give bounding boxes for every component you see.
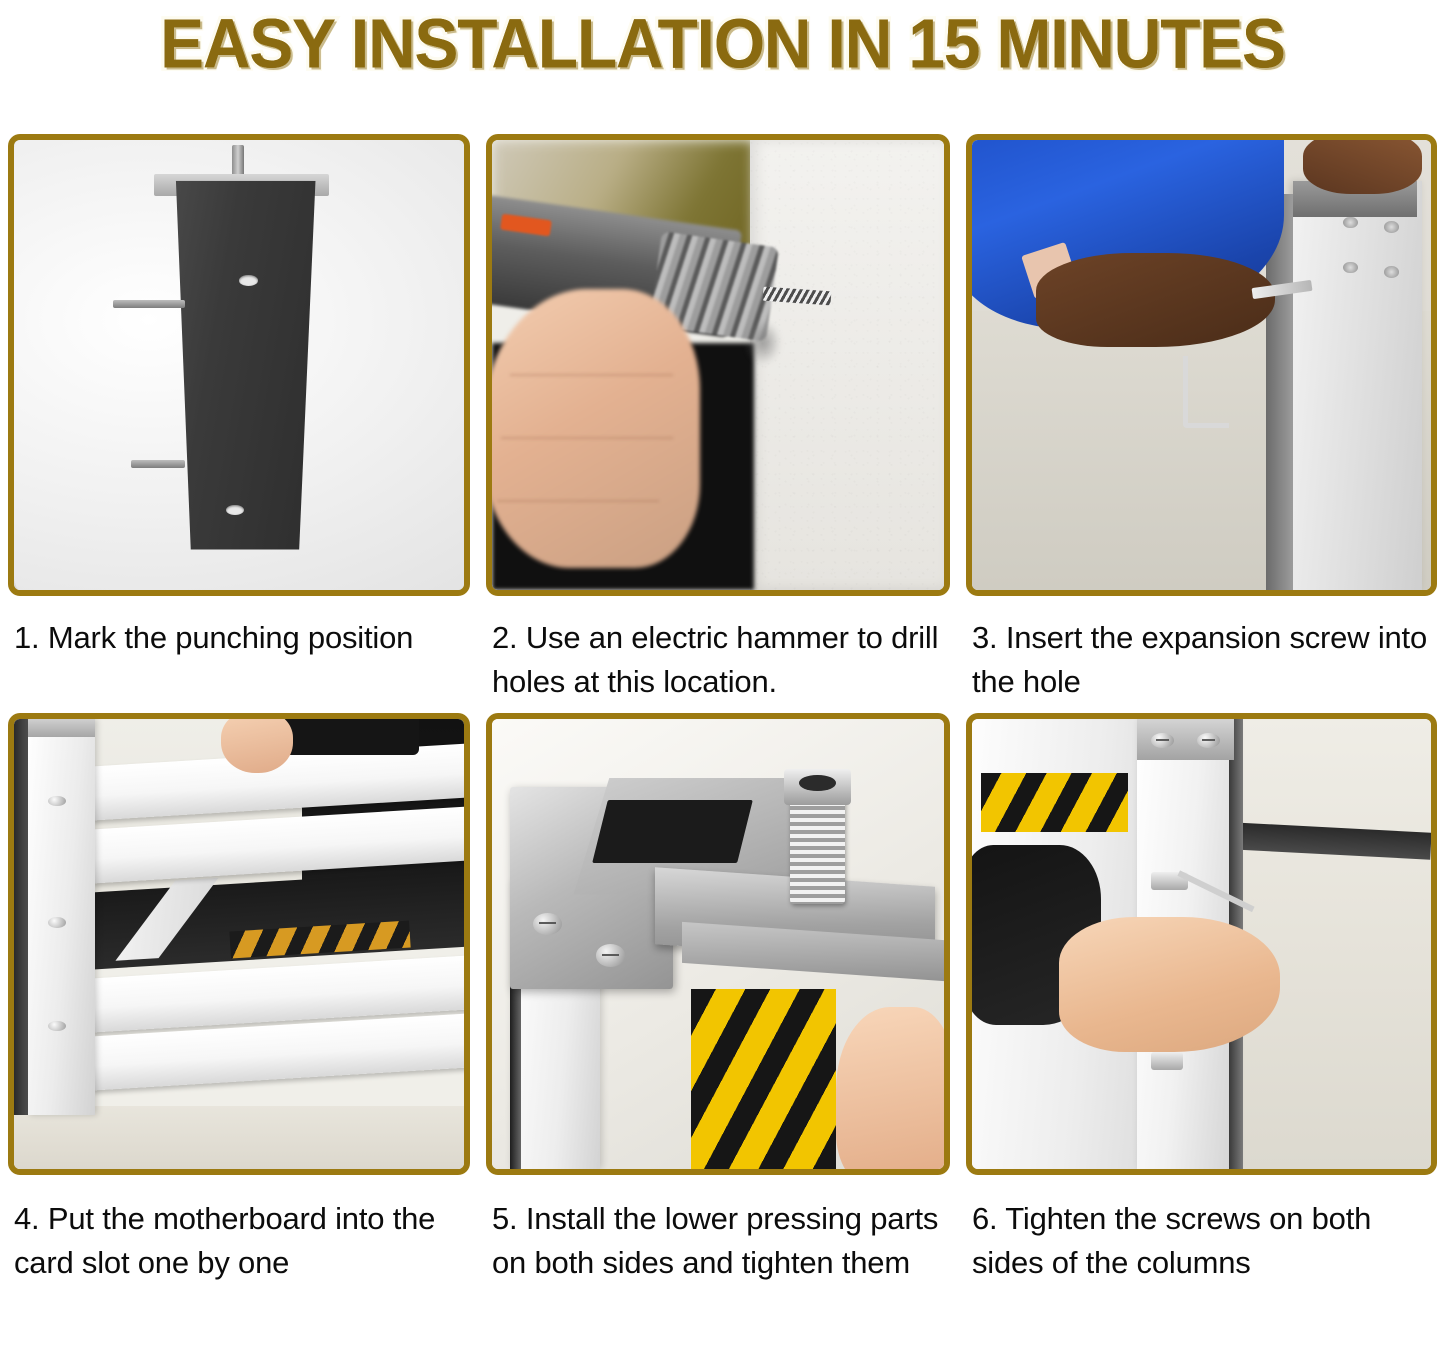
second-hand <box>1303 140 1422 194</box>
bolt-upper <box>113 300 185 309</box>
photo-pressing-parts <box>492 719 944 1169</box>
post-screw <box>48 1021 66 1032</box>
photo-tighten-screws <box>972 719 1431 1169</box>
post-screw <box>48 796 66 807</box>
step-caption-6: 6. Tighten the screws on both sides of t… <box>966 1197 1437 1285</box>
bracket-screw <box>596 944 625 967</box>
hex-key-on-ground <box>1183 356 1229 428</box>
photo-insert-boards <box>14 719 464 1169</box>
header-banner: EASY INSTALLATION IN 15 MINUTES <box>0 0 1445 86</box>
step-photo-frame-4 <box>8 713 470 1175</box>
step-card-1: 1. Mark the punching position <box>0 86 478 705</box>
post-top-cap <box>28 719 96 737</box>
step-card-5: 5. Install the lower pressing parts on b… <box>478 705 958 1352</box>
post-screw <box>48 917 66 928</box>
bracket-screw <box>533 913 562 936</box>
hand <box>836 1007 944 1169</box>
finger-line <box>510 374 673 376</box>
white-column <box>1293 181 1422 591</box>
step-photo-frame-6 <box>966 713 1437 1175</box>
step-caption-3: 3. Insert the expansion screw into the h… <box>966 616 1437 704</box>
side-fitting-lower <box>1151 1052 1183 1070</box>
finger-line <box>501 437 673 439</box>
white-wall <box>750 140 944 590</box>
person-silhouette <box>284 719 419 755</box>
hand <box>1059 917 1279 1052</box>
photo-insert-expansion-screw <box>972 140 1431 590</box>
hand <box>492 289 700 568</box>
thumb-bolt-socket <box>799 775 835 791</box>
column-screw <box>1384 221 1399 233</box>
step-caption-4: 4. Put the motherboard into the card slo… <box>8 1197 470 1285</box>
step-photo-frame-1 <box>8 134 470 596</box>
bolt-lower <box>131 460 185 469</box>
ground <box>14 1106 464 1169</box>
step-caption-2: 2. Use an electric hammer to drill holes… <box>486 616 950 704</box>
step-caption-5: 5. Install the lower pressing parts on b… <box>486 1197 950 1285</box>
drill-dust <box>745 320 781 365</box>
step-card-6: 6. Tighten the screws on both sides of t… <box>958 705 1445 1352</box>
step-photo-frame-3 <box>966 134 1437 596</box>
column-screw <box>1384 266 1399 278</box>
step-card-2: 2. Use an electric hammer to drill holes… <box>478 86 958 705</box>
steps-grid: 1. Mark the punching position 2. Use an … <box>0 86 1445 1352</box>
hazard-stripe <box>981 773 1128 832</box>
step-card-3: 3. Insert the expansion screw into the h… <box>958 86 1445 705</box>
mounting-post <box>167 181 316 550</box>
column-screw <box>1151 733 1174 748</box>
step-photo-frame-2 <box>486 134 950 596</box>
step-caption-1: 1. Mark the punching position <box>8 616 470 660</box>
forearm <box>1036 253 1275 348</box>
finger-line <box>497 500 660 502</box>
column-screw <box>1343 262 1358 274</box>
photo-drill-holes <box>492 140 944 590</box>
photo-mark-punching-position <box>14 140 464 590</box>
hazard-stripe <box>691 989 836 1169</box>
column-screw <box>1343 217 1358 229</box>
bracket-slot <box>593 800 753 863</box>
page-title: EASY INSTALLATION IN 15 MINUTES <box>160 9 1285 81</box>
step-card-4: 4. Put the motherboard into the card slo… <box>0 705 478 1352</box>
mounting-hole-upper <box>239 275 258 286</box>
column-screw <box>1197 733 1220 748</box>
step-photo-frame-5 <box>486 713 950 1175</box>
